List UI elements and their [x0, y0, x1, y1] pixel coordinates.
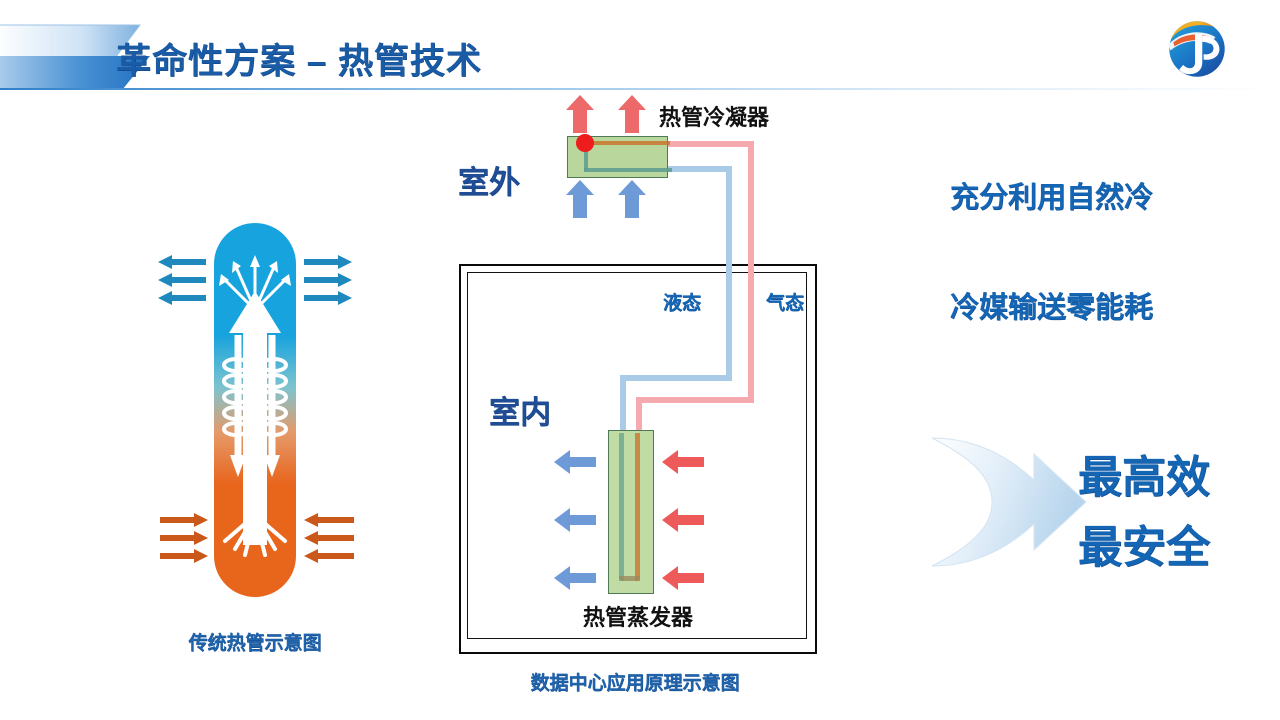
page-title: 革命性方案 – 热管技术 — [116, 33, 482, 84]
heat-pipe-evaporator-unit — [608, 430, 654, 594]
condenser-cold-air-in-arrows — [560, 180, 670, 220]
liquid-pipe-horizontal-top — [668, 166, 732, 172]
slide-header: 革命性方案 – 热管技术 — [0, 0, 1280, 95]
evaporator-label: 热管蒸发器 — [583, 600, 693, 632]
evaporator-liquid-channel — [619, 433, 624, 581]
condenser-label: 热管冷凝器 — [659, 100, 769, 132]
liquid-pipe-vertical — [726, 166, 732, 381]
benefit-text-2: 冷媒输送零能耗 — [950, 284, 1153, 326]
condenser-inlet-marker — [576, 134, 594, 152]
left-diagram-caption: 传统热管示意图 — [155, 628, 355, 655]
gas-phase-label: 气态 — [766, 288, 804, 315]
header-divider — [0, 88, 1280, 90]
gas-pipe-horizontal-bottom — [636, 397, 754, 403]
liquid-phase-label: 液态 — [663, 288, 701, 315]
slide-canvas: 革命性方案 – 热管技术 — [0, 0, 1280, 720]
classic-heat-pipe-diagram — [150, 215, 365, 605]
evaporator-cold-air-out-arrows — [552, 450, 604, 590]
conclusion-text-1: 最高效 — [1078, 441, 1210, 505]
company-logo-icon — [1164, 16, 1230, 82]
benefit-text-1: 充分利用自然冷 — [950, 174, 1153, 216]
condenser-liquid-channel-across — [584, 168, 672, 172]
condenser-hot-air-out-arrows — [560, 95, 670, 135]
conclusion-text-2: 最安全 — [1078, 511, 1210, 575]
liquid-pipe-horizontal-bottom — [620, 375, 732, 381]
indoor-label: 室内 — [489, 387, 551, 432]
evaporator-gas-channel — [635, 433, 640, 581]
outdoor-label: 室外 — [458, 157, 520, 202]
gas-pipe-vertical — [748, 141, 754, 403]
right-pointing-arrow-icon — [930, 432, 1090, 572]
liquid-pipe-drop-to-evaporator — [620, 375, 626, 437]
evaporator-u-bend — [619, 576, 640, 581]
evaporator-hot-air-in-arrows — [660, 450, 712, 590]
center-diagram-caption: 数据中心应用原理示意图 — [455, 668, 815, 695]
gas-pipe-horizontal-top — [668, 141, 754, 147]
